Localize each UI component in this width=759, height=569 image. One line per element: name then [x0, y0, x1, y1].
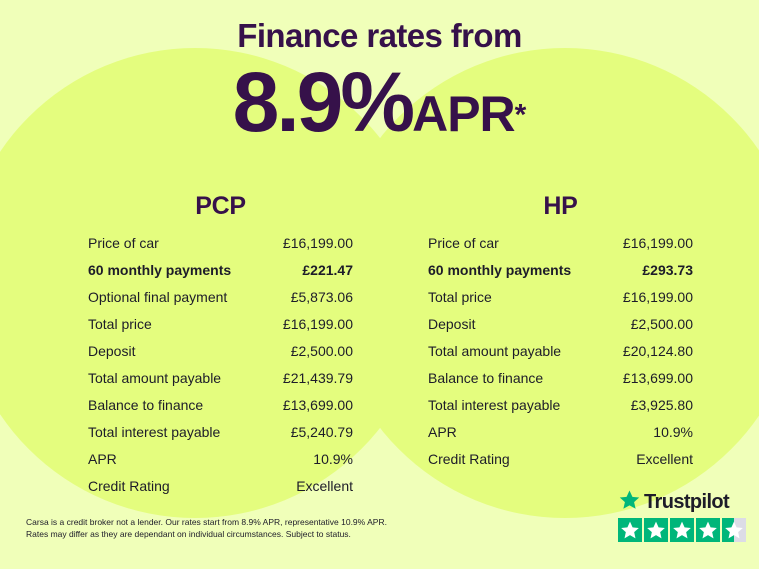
header: Finance rates from 8.9%APR*	[0, 18, 759, 144]
table-row: Total amount payable £21,439.79	[88, 370, 353, 397]
page-title: Finance rates from	[0, 18, 759, 54]
row-value: Excellent	[296, 478, 353, 494]
rate-figure: 8.9%	[233, 55, 412, 149]
trustpilot-star-1	[618, 518, 642, 542]
row-value: 10.9%	[653, 424, 693, 440]
table-row: APR 10.9%	[88, 451, 353, 478]
row-value: £16,199.00	[623, 289, 693, 305]
row-label: Optional final payment	[88, 289, 227, 305]
row-value: £16,199.00	[283, 316, 353, 332]
trustpilot-star-4	[696, 518, 720, 542]
table-row: Balance to finance £13,699.00	[88, 397, 353, 424]
row-value: £293.73	[642, 262, 693, 278]
table-row: Total interest payable £5,240.79	[88, 424, 353, 451]
row-label: Credit Rating	[88, 478, 170, 494]
row-label: Total amount payable	[428, 343, 561, 359]
table-row: Total price £16,199.00	[428, 289, 693, 316]
row-value: £5,873.06	[291, 289, 353, 305]
table-row: Deposit £2,500.00	[88, 343, 353, 370]
row-label: APR	[88, 451, 117, 467]
table-row: Total price £16,199.00	[88, 316, 353, 343]
star-icon	[618, 489, 641, 516]
row-label: Total price	[428, 289, 492, 305]
trustpilot-logo: Trustpilot	[618, 490, 750, 514]
row-label: Total interest payable	[428, 397, 560, 413]
row-label: Balance to finance	[428, 370, 543, 386]
trustpilot-star-3	[670, 518, 694, 542]
table-row: Price of car £16,199.00	[88, 235, 353, 262]
disclaimer-line-1: Carsa is a credit broker not a lender. O…	[26, 516, 456, 528]
poster-canvas: Finance rates from 8.9%APR* PCP Price of…	[0, 0, 759, 569]
row-label: 60 monthly payments	[428, 262, 571, 278]
plan-hp-title: HP	[428, 192, 693, 221]
trustpilot-star-2	[644, 518, 668, 542]
row-value: £5,240.79	[291, 424, 353, 440]
row-value: £2,500.00	[291, 343, 353, 359]
plan-hp-rows: Price of car £16,199.00 60 monthly payme…	[428, 235, 693, 478]
trustpilot-rating: Trustpilot	[618, 490, 750, 542]
table-row: Deposit £2,500.00	[428, 316, 693, 343]
row-label: Total price	[88, 316, 152, 332]
table-row: Price of car £16,199.00	[428, 235, 693, 262]
table-row: 60 monthly payments £221.47	[88, 262, 353, 289]
trustpilot-star-5-half	[722, 518, 746, 542]
row-value: Excellent	[636, 451, 693, 467]
plan-pcp: PCP Price of car £16,199.00 60 monthly p…	[88, 192, 353, 505]
trustpilot-wordmark: Trustpilot	[644, 491, 729, 514]
row-value: £3,925.80	[631, 397, 693, 413]
row-label: Price of car	[428, 235, 499, 251]
row-value: £20,124.80	[623, 343, 693, 359]
table-row: Optional final payment £5,873.06	[88, 289, 353, 316]
table-row: APR 10.9%	[428, 424, 693, 451]
row-label: Price of car	[88, 235, 159, 251]
row-label: Credit Rating	[428, 451, 510, 467]
row-value: £221.47	[302, 262, 353, 278]
row-label: APR	[428, 424, 457, 440]
table-row: Credit Rating Excellent	[88, 478, 353, 505]
table-row: Credit Rating Excellent	[428, 451, 693, 478]
rate-headline: 8.9%APR*	[0, 60, 759, 144]
plan-hp: HP Price of car £16,199.00 60 monthly pa…	[428, 192, 693, 478]
trustpilot-stars	[618, 518, 750, 542]
row-value: £2,500.00	[631, 316, 693, 332]
table-row: Total amount payable £20,124.80	[428, 343, 693, 370]
rate-suffix: APR	[412, 86, 515, 142]
row-label: Deposit	[88, 343, 135, 359]
row-label: 60 monthly payments	[88, 262, 231, 278]
row-label: Total interest payable	[88, 424, 220, 440]
row-value: £13,699.00	[283, 397, 353, 413]
row-value: £16,199.00	[283, 235, 353, 251]
row-label: Balance to finance	[88, 397, 203, 413]
table-row: Total interest payable £3,925.80	[428, 397, 693, 424]
disclaimer-text: Carsa is a credit broker not a lender. O…	[26, 516, 456, 541]
table-row: 60 monthly payments £293.73	[428, 262, 693, 289]
row-value: £16,199.00	[623, 235, 693, 251]
plan-pcp-title: PCP	[88, 192, 353, 221]
rate-asterisk: *	[515, 99, 527, 132]
row-value: 10.9%	[313, 451, 353, 467]
disclaimer-line-2: Rates may differ as they are dependant o…	[26, 528, 456, 540]
row-label: Deposit	[428, 316, 475, 332]
plan-pcp-rows: Price of car £16,199.00 60 monthly payme…	[88, 235, 353, 505]
row-label: Total amount payable	[88, 370, 221, 386]
row-value: £21,439.79	[283, 370, 353, 386]
row-value: £13,699.00	[623, 370, 693, 386]
table-row: Balance to finance £13,699.00	[428, 370, 693, 397]
